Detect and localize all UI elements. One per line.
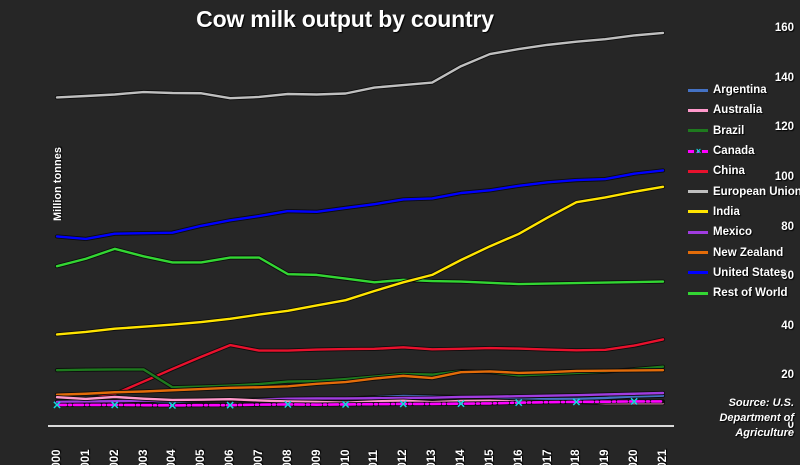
x-tick-label: 2005 [195, 431, 207, 465]
legend-label: Brazil [713, 125, 744, 137]
series-outline [57, 249, 663, 284]
x-tick-label: 2018 [570, 431, 582, 465]
y-tick-label: 20 [748, 369, 794, 381]
legend-item-mexico[interactable]: Mexico [688, 222, 800, 242]
legend-item-united-states[interactable]: United States [688, 263, 800, 283]
x-tick-label: 2013 [426, 431, 438, 465]
legend-swatch-icon [688, 170, 708, 173]
legend-swatch-icon [688, 271, 708, 274]
legend-swatch-icon [688, 292, 708, 295]
series-india [57, 187, 663, 335]
x-tick-label: 2000 [51, 431, 63, 465]
x-tick-label: 2019 [599, 431, 611, 465]
x-tick-label: 2011 [368, 431, 380, 465]
y-tick-label: 160 [748, 22, 794, 34]
x-tick-label: 2020 [628, 431, 640, 465]
legend-item-new-zealand[interactable]: New Zealand [688, 242, 800, 262]
legend-label: United States [713, 267, 787, 279]
legend-label: India [713, 206, 740, 218]
x-tick-label: 2004 [166, 431, 178, 465]
series-outline [57, 187, 663, 335]
legend-marker-icon: × [695, 147, 702, 156]
plot-svg [48, 28, 672, 425]
source-note: Source: U.S. Department of Agriculture [690, 396, 794, 441]
legend-swatch-icon [688, 129, 708, 132]
source-line-2: Department of [690, 411, 794, 426]
legend-label: Argentina [713, 84, 767, 96]
legend-label: Mexico [713, 226, 752, 238]
chart-legend: ArgentinaAustraliaBrazil×CanadaChinaEuro… [688, 80, 800, 303]
chart-container: Cow milk output by country Million tonne… [0, 0, 800, 465]
legend-item-china[interactable]: China [688, 161, 800, 181]
legend-label: European Union [713, 186, 800, 198]
legend-item-india[interactable]: India [688, 202, 800, 222]
x-tick-label: 2010 [340, 431, 352, 465]
series-european-union [57, 33, 663, 98]
legend-swatch-icon [688, 231, 708, 234]
legend-item-european-union[interactable]: European Union [688, 181, 800, 201]
x-tick-label: 2016 [513, 431, 525, 465]
legend-swatch-icon [688, 89, 708, 92]
x-tick-label: 2009 [311, 431, 323, 465]
legend-item-argentina[interactable]: Argentina [688, 80, 800, 100]
legend-swatch-icon [688, 109, 708, 112]
series-rest-of-world [57, 249, 663, 284]
legend-swatch-icon [688, 190, 708, 193]
plot-area [48, 28, 672, 425]
x-tick-label: 2006 [224, 431, 236, 465]
series-line [57, 187, 663, 335]
source-line-1: Source: U.S. [690, 396, 794, 411]
x-tick-label: 2003 [138, 431, 150, 465]
x-axis-line [48, 425, 674, 427]
legend-label: New Zealand [713, 247, 783, 259]
legend-label: Rest of World [713, 287, 788, 299]
legend-item-rest-of-world[interactable]: Rest of World [688, 283, 800, 303]
x-tick-label: 2021 [657, 431, 669, 465]
x-tick-label: 2007 [253, 431, 265, 465]
legend-label: Canada [713, 145, 755, 157]
legend-label: Australia [713, 104, 762, 116]
legend-item-australia[interactable]: Australia [688, 100, 800, 120]
legend-swatch-icon: × [688, 150, 708, 153]
legend-label: China [713, 165, 745, 177]
x-tick-label: 2015 [484, 431, 496, 465]
series-layer [54, 33, 663, 409]
x-tick-label: 2001 [80, 431, 92, 465]
legend-swatch-icon [688, 251, 708, 254]
y-tick-label: 40 [748, 320, 794, 332]
x-tick-label: 2012 [397, 431, 409, 465]
x-tick-label: 2014 [455, 431, 467, 465]
source-line-3: Agriculture [690, 426, 794, 441]
legend-item-canada[interactable]: ×Canada [688, 141, 800, 161]
legend-item-brazil[interactable]: Brazil [688, 121, 800, 141]
legend-swatch-icon [688, 210, 708, 213]
x-tick-label: 2017 [542, 431, 554, 465]
x-tick-label: 2008 [282, 431, 294, 465]
x-tick-label: 2002 [109, 431, 121, 465]
